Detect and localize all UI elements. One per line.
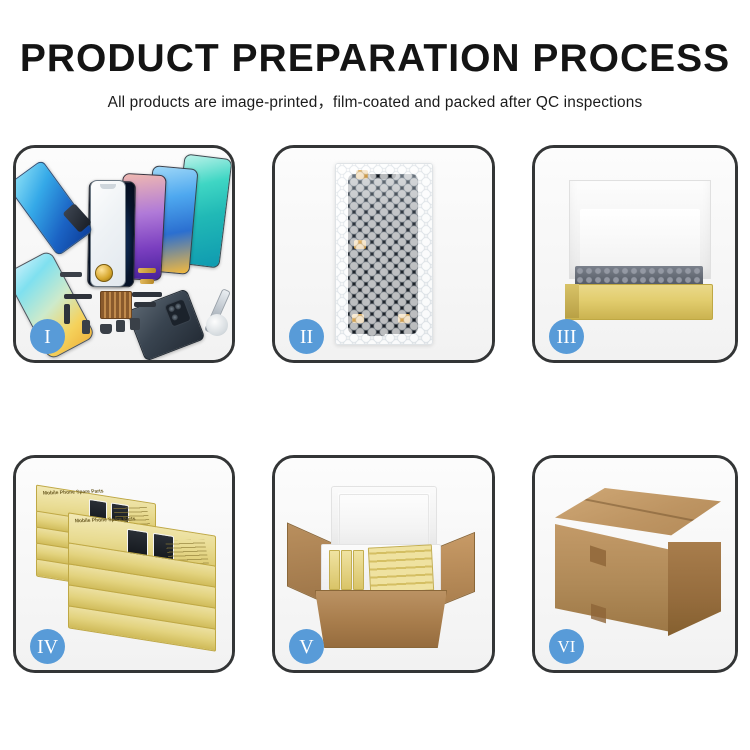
yellow-box-bar-2	[341, 550, 352, 590]
flex-cable-icon	[64, 294, 92, 299]
carton-right-face-icon	[668, 542, 721, 636]
step-panel-4: Mobile Phone Spare Parts Mobile Phone Sp…	[13, 455, 235, 673]
speaker-module-icon	[95, 264, 113, 282]
camera-module-icon	[164, 298, 192, 328]
polishing-pad-icon	[206, 314, 228, 336]
box-stack: Mobile Phone Spare Parts Mobile Phone Sp…	[32, 480, 220, 656]
box-base-side-icon	[565, 284, 579, 318]
step-panel-6: VI	[532, 455, 738, 673]
yellow-box-bar-1	[329, 550, 340, 590]
carton-left-face-icon	[555, 524, 671, 632]
step-panel-5: V	[272, 455, 495, 673]
step-panel-2: II	[272, 145, 495, 363]
page-subtitle: All products are image-printed，film-coat…	[0, 90, 750, 112]
phone-flex-display-icon	[16, 159, 94, 256]
step-badge-1: I	[30, 319, 65, 354]
step-panel-3: III	[532, 145, 738, 363]
small-part-icon	[82, 320, 90, 334]
carton-front-panel-icon	[315, 590, 447, 648]
step-panel-1: I	[13, 145, 235, 363]
sealed-shipping-carton	[555, 488, 721, 646]
flex-cable-4-icon	[134, 302, 156, 307]
gold-connector-part-2-icon	[140, 279, 154, 284]
box-lid-icon	[569, 180, 711, 279]
step-badge-4: IV	[30, 629, 65, 664]
bubble-wrap-bag	[335, 163, 433, 345]
vibrator-part-icon	[100, 324, 112, 334]
flex-cable-3-icon	[132, 292, 162, 297]
yellow-box-bar-3	[353, 550, 364, 590]
box-label-text-front: Mobile Phone Spare Parts	[74, 516, 136, 524]
box-label-text-rear: Mobile Phone Spare Parts	[42, 488, 104, 496]
yellow-boxes-stack-icon	[368, 544, 434, 593]
bubble-texture	[336, 164, 432, 344]
header: PRODUCT PREPARATION PROCESS All products…	[0, 0, 750, 112]
page-title: PRODUCT PREPARATION PROCESS	[0, 38, 750, 79]
logic-board-icon	[100, 291, 132, 319]
flex-cable-2-icon	[64, 304, 70, 324]
step-badge-2: II	[289, 319, 324, 354]
earpiece-part-icon	[60, 272, 82, 277]
step-badge-6: VI	[549, 629, 584, 664]
box-base-icon	[565, 284, 713, 320]
sensor-part-icon	[130, 318, 140, 330]
gold-connector-part-icon	[138, 268, 156, 273]
process-steps-grid: I II	[0, 137, 750, 697]
product-preparation-infographic: PRODUCT PREPARATION PROCESS All products…	[0, 0, 750, 750]
sim-tray-part-icon	[116, 320, 125, 332]
open-shipping-carton	[297, 486, 463, 646]
step-badge-5: V	[289, 629, 324, 664]
step-badge-3: III	[549, 319, 584, 354]
open-inner-box	[563, 180, 713, 330]
